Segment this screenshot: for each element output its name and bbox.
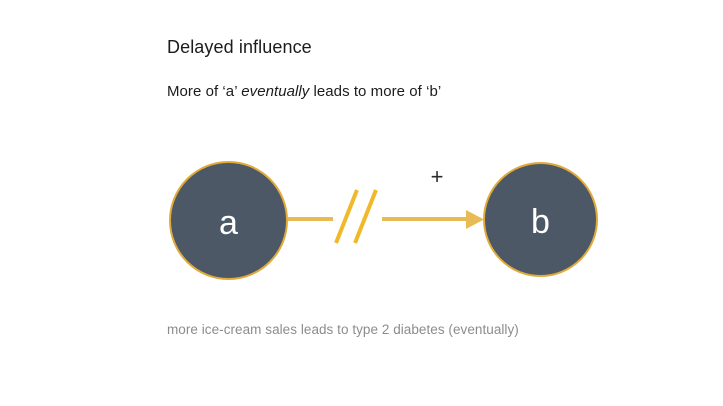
slide-canvas: Delayed influence More of ‘a’ eventually… [0,0,723,406]
node-b-label: b [531,205,550,239]
arrowhead-icon [466,210,484,229]
node-b[interactable]: b [483,162,598,277]
causal-link-diagram: a b + [0,0,723,406]
delay-slash-icon-1 [336,190,357,243]
link-arrow-svg [0,0,723,406]
diagram-caption: more ice-cream sales leads to type 2 dia… [167,321,519,339]
node-a-label: a [219,206,238,240]
link-polarity-plus: + [424,164,450,190]
node-a[interactable]: a [169,161,288,280]
delay-slash-icon-2 [355,190,376,243]
